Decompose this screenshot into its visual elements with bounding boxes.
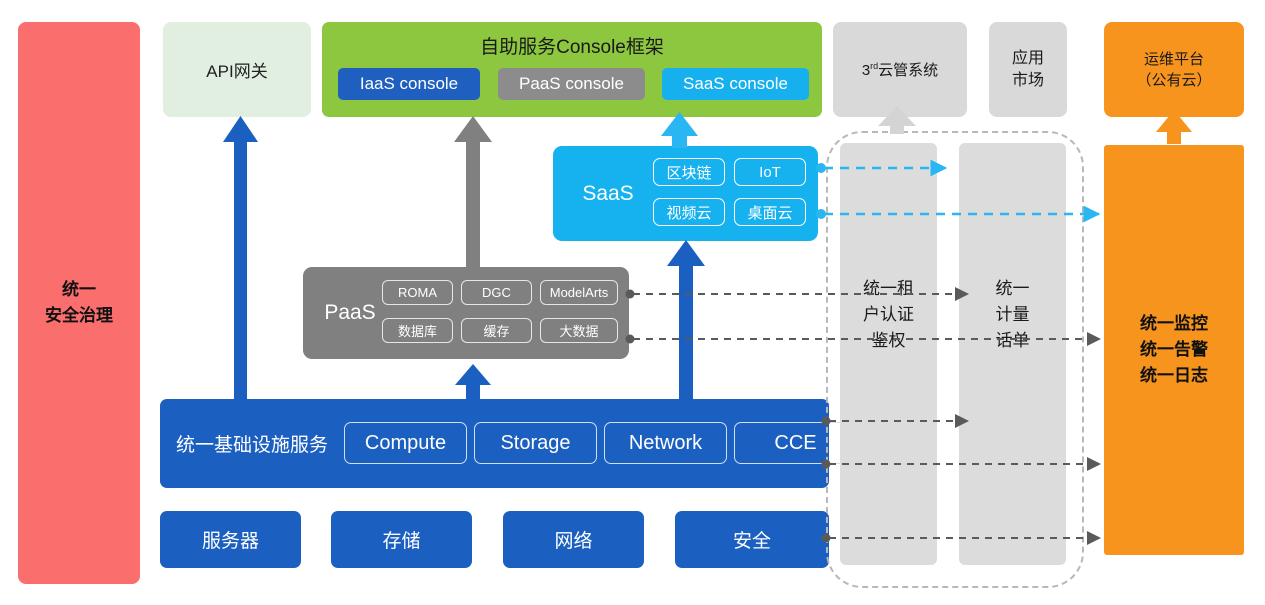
app-market-box: 应用 市场	[989, 22, 1067, 117]
metering-line-1: 统一	[959, 276, 1066, 302]
paas-chip-roma[interactable]: ROMA	[382, 280, 453, 305]
iaas-console-label: IaaS console	[360, 74, 458, 94]
ops-top-line-2: （公有云）	[1136, 70, 1211, 91]
saas-chip-video-cloud[interactable]: 视频云	[653, 198, 725, 226]
hardware-box-security[interactable]: 安全	[675, 511, 829, 568]
api-gateway-box: API网关	[163, 22, 311, 117]
hardware-box-network[interactable]: 网络	[503, 511, 644, 568]
security-line-1: 统一	[45, 277, 113, 303]
api-gateway-label: API网关	[206, 57, 267, 82]
ops-right-line-1: 统一监控	[1140, 311, 1208, 337]
arrow-infra-to-paas	[455, 364, 491, 402]
app-market-line-2: 市场	[1012, 70, 1044, 92]
paas-chip-dgc[interactable]: DGC	[461, 280, 532, 305]
ops-right-line-2: 统一告警	[1140, 337, 1208, 363]
arrow-infra-to-saas	[667, 240, 705, 399]
third-party-label: 3rd云管系统	[862, 59, 938, 80]
iaas-console-chip[interactable]: IaaS console	[338, 68, 480, 100]
third-party-cloud-management-box: 3rd云管系统	[833, 22, 967, 117]
app-market-line-1: 应用	[1012, 48, 1044, 70]
architecture-diagram: 统一 安全治理 API网关 自助服务Console框架 IaaS console…	[0, 0, 1265, 605]
infra-chip-storage[interactable]: Storage	[474, 422, 597, 464]
hardware-box-server[interactable]: 服务器	[160, 511, 301, 568]
unified-tenant-auth-column: 统一租 户认证 鉴权	[840, 143, 937, 565]
metering-line-3: 话单	[959, 328, 1066, 354]
metering-column-label: 统一 计量 话单	[959, 276, 1066, 354]
auth-line-1: 统一租	[840, 276, 937, 302]
paas-chip-database[interactable]: 数据库	[382, 318, 453, 343]
saas-chip-blockchain[interactable]: 区块链	[653, 158, 725, 186]
paas-console-label: PaaS console	[519, 74, 624, 94]
paas-chip-cache[interactable]: 缓存	[461, 318, 532, 343]
hardware-box-storage[interactable]: 存储	[331, 511, 472, 568]
ops-right-line-3: 统一日志	[1140, 363, 1208, 389]
arrow-infra-to-api-gateway	[223, 116, 258, 399]
ops-platform-public-cloud-box: 运维平台 （公有云）	[1104, 22, 1244, 117]
paas-layer-block: PaaS ROMA DGC ModelArts 数据库 缓存 大数据	[303, 267, 629, 359]
metering-line-2: 计量	[959, 302, 1066, 328]
unified-infrastructure-service-bar: 统一基础设施服务 Compute Storage Network CCE	[160, 399, 829, 488]
saas-layer-label: SaaS	[565, 146, 651, 241]
saas-chip-desktop-cloud[interactable]: 桌面云	[734, 198, 806, 226]
infra-label: 统一基础设施服务	[176, 399, 328, 488]
security-line-2: 安全治理	[45, 303, 113, 329]
paas-console-chip[interactable]: PaaS console	[498, 68, 645, 100]
unified-security-governance-panel: 统一 安全治理	[18, 22, 140, 584]
saas-layer-block: SaaS 区块链 IoT 视频云 桌面云	[553, 146, 818, 241]
paas-chip-bigdata[interactable]: 大数据	[540, 318, 618, 343]
console-framework-title: 自助服务Console框架	[322, 32, 822, 59]
saas-console-chip[interactable]: SaaS console	[662, 68, 809, 100]
paas-chip-modelarts[interactable]: ModelArts	[540, 280, 618, 305]
saas-chip-iot[interactable]: IoT	[734, 158, 806, 186]
paas-layer-label: PaaS	[311, 267, 389, 359]
infra-chip-network[interactable]: Network	[604, 422, 727, 464]
auth-column-label: 统一租 户认证 鉴权	[840, 276, 937, 354]
saas-console-label: SaaS console	[683, 74, 788, 94]
arrow-saas-to-console	[661, 112, 698, 148]
auth-line-3: 鉴权	[840, 328, 937, 354]
self-service-console-framework: 自助服务Console框架 IaaS console PaaS console …	[322, 22, 822, 117]
ops-top-line-1: 运维平台	[1136, 49, 1211, 70]
infra-chip-compute[interactable]: Compute	[344, 422, 467, 464]
unified-metering-billing-column: 统一 计量 话单	[959, 143, 1066, 565]
auth-line-2: 户认证	[840, 302, 937, 328]
unified-monitoring-panel: 统一监控 统一告警 统一日志	[1104, 145, 1244, 555]
arrow-paas-to-console	[454, 116, 492, 268]
